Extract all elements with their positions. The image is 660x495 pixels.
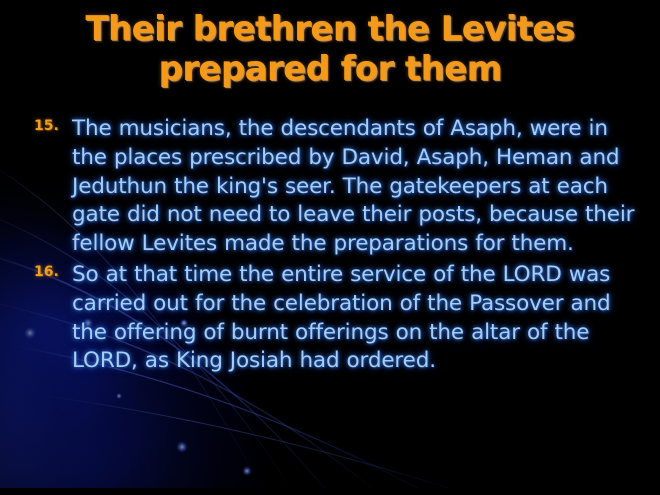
slide-body: 15. The musicians, the descendants of As… [0,115,660,376]
presentation-slide: Their brethren the Levites prepared for … [0,0,660,495]
title-line-1: Their brethren the Levites [0,9,660,49]
title-line-2: prepared for them [0,49,660,89]
slide-title: Their brethren the Levites prepared for … [0,9,660,89]
verse-item: 16. So at that time the entire service o… [0,261,660,376]
verse-text: The musicians, the descendants of Asaph,… [72,116,634,256]
verse-text: So at that time the entire service of th… [72,262,611,373]
verse-number: 16. [34,264,59,280]
slide-bottom-band [0,488,660,495]
verse-item: 15. The musicians, the descendants of As… [0,115,660,259]
verse-number: 15. [34,118,59,134]
